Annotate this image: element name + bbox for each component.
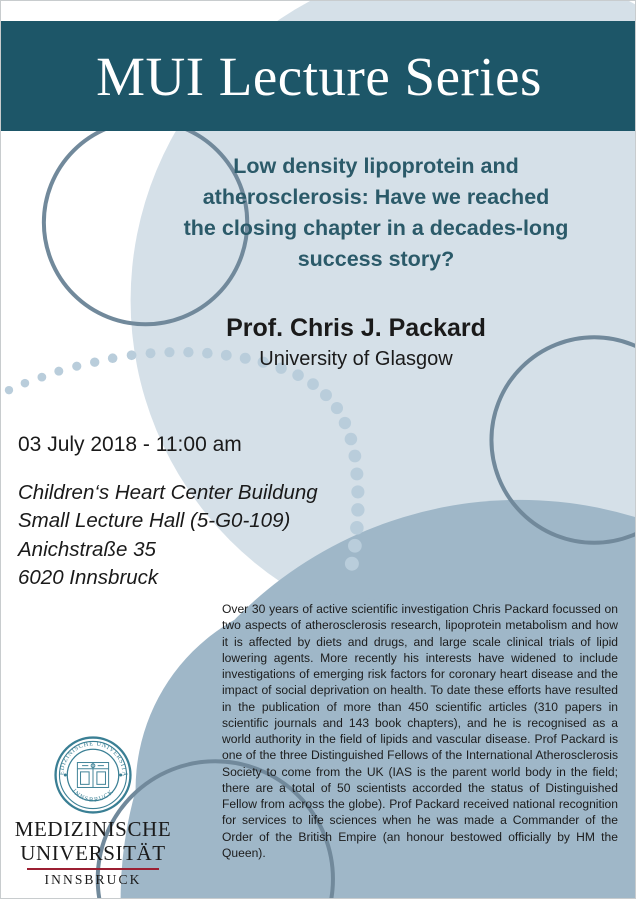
venue-city: 6020 Innsbruck: [18, 564, 318, 592]
lecture-title-line-1: Low density lipoprotein and: [136, 151, 616, 182]
venue-building: Children‘s Heart Center Buildung: [18, 479, 318, 507]
speaker-block: Prof. Chris J. Packard University of Gla…: [121, 313, 591, 372]
lecture-poster: MUI Lecture Series Low density lipoprote…: [0, 0, 636, 899]
event-venue: Children‘s Heart Center Buildung Small L…: [18, 479, 318, 593]
header-band: MUI Lecture Series: [1, 21, 636, 131]
venue-room: Small Lecture Hall (5-G0-109): [18, 507, 318, 535]
event-datetime: 03 July 2018 - 11:00 am: [18, 433, 242, 457]
speaker-name: Prof. Chris J. Packard: [121, 313, 591, 344]
venue-street: Anichstraße 35: [18, 536, 318, 564]
page-title: MUI Lecture Series: [96, 49, 542, 104]
university-seal-icon: MEDIZINISCHE UNIVERSITÄT INNSBRUCK: [54, 736, 132, 814]
speaker-affiliation: University of Glasgow: [121, 346, 591, 372]
logo-wordmark-line-2: UNIVERSITÄT: [13, 842, 173, 866]
university-logo: MEDIZINISCHE UNIVERSITÄT INNSBRUCK MEDIZ…: [13, 736, 173, 888]
lecture-title-line-3: the closing chapter in a decades-long: [136, 213, 616, 244]
logo-wordmark: MEDIZINISCHE UNIVERSITÄT: [13, 818, 173, 865]
lecture-title-line-4: success story?: [136, 244, 616, 275]
lecture-title: Low density lipoprotein and atherosclero…: [136, 151, 616, 275]
lecture-title-line-2: atherosclerosis: Have we reached: [136, 182, 616, 213]
logo-city: INNSBRUCK: [13, 872, 173, 888]
logo-wordmark-line-1: MEDIZINISCHE: [13, 818, 173, 842]
logo-divider: [27, 868, 159, 870]
svg-text:INNSBRUCK: INNSBRUCK: [71, 788, 116, 804]
abstract-text: Over 30 years of active scientific inves…: [222, 601, 618, 861]
